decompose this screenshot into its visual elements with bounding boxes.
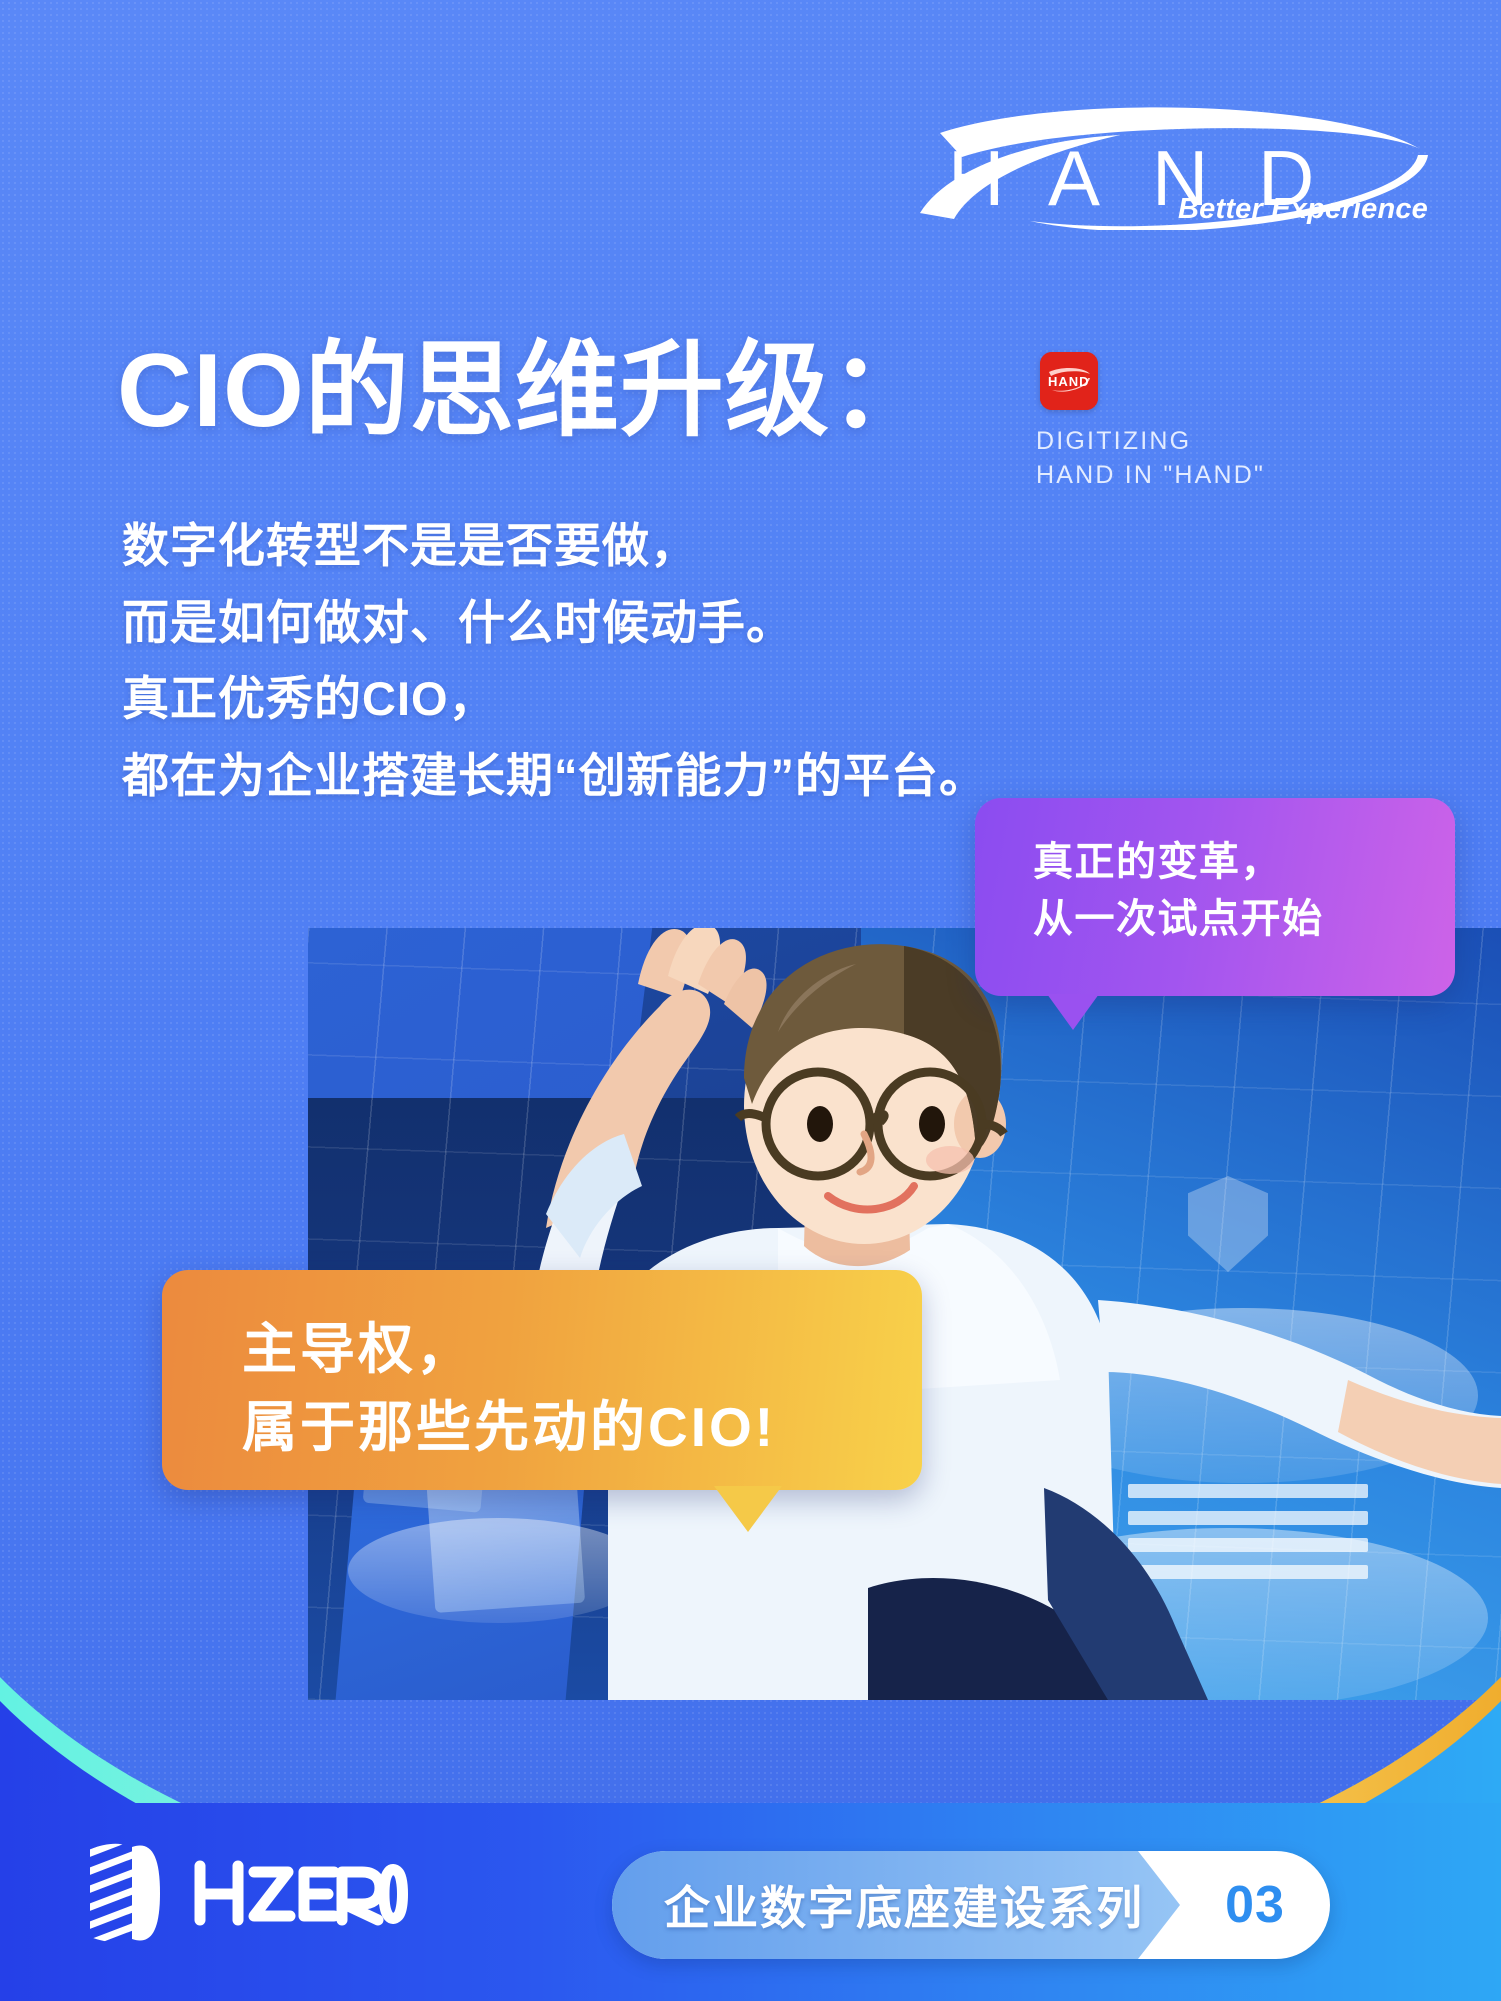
series-label: 企业数字底座建设系列 [664,1872,1144,1938]
purple-bubble-line-2: 从一次试点开始 [1033,891,1455,948]
series-number: 03 [1180,1875,1330,1935]
digitizing-caption: DIGITIZING HAND IN "HAND" [1036,425,1265,493]
digitizing-line-1: DIGITIZING [1036,425,1265,459]
body-line-3: 真正优秀的CIO， [122,661,987,738]
poster-root: H A N D Better Experience CIO的思维升级： HAND… [0,0,1501,2001]
orange-bubble-line-2: 属于那些先动的CIO! [242,1388,922,1466]
speech-bubble-purple: 真正的变革， 从一次试点开始 [975,798,1455,996]
series-label-container: 企业数字底座建设系列 [612,1851,1180,1959]
svg-text:H: H [948,134,1020,222]
orange-bubble-tail [714,1486,782,1532]
svg-text:HAND: HAND [1048,374,1090,389]
orange-bubble-line-1: 主导权， [242,1310,922,1388]
body-line-4: 都在为企业搭建长期“创新能力”的平台。 [122,738,987,815]
digitizing-line-2: HAND IN "HAND" [1036,459,1265,493]
brand-tagline: Better Experience [1178,193,1428,226]
purple-bubble-tail [1047,994,1099,1030]
body-line-2: 而是如何做对、什么时候动手。 [122,585,987,662]
hand-red-badge-icon: HAND [1040,352,1098,410]
purple-bubble-line-1: 真正的变革， [1033,834,1455,891]
speech-bubble-orange: 主导权， 属于那些先动的CIO! [162,1270,922,1490]
body-copy: 数字化转型不是是否要做， 而是如何做对、什么时候动手。 真正优秀的CIO， 都在… [122,508,987,814]
hzero-mark-icon [84,1837,170,1949]
page-title: CIO的思维升级： [117,337,935,446]
svg-text:A: A [1048,134,1116,222]
series-pill[interactable]: 企业数字底座建设系列 03 [612,1851,1330,1959]
hzero-logo [84,1837,410,1949]
hzero-wordmark [192,1858,410,1928]
body-line-1: 数字化转型不是是否要做， [122,508,987,585]
